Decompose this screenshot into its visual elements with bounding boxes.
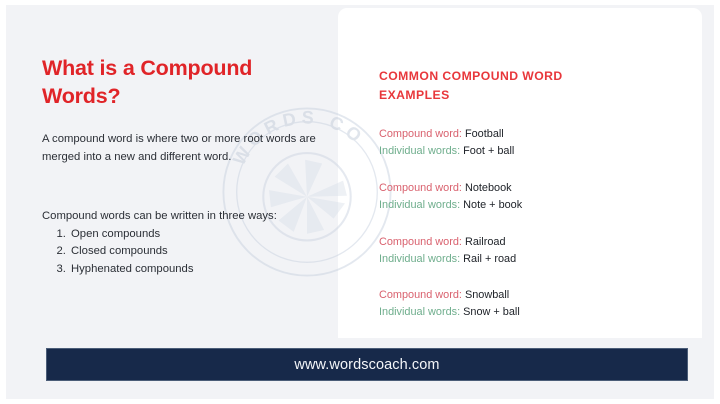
example-block: Compound word: Railroad Individual words… xyxy=(379,234,679,268)
compound-word-value: Notebook xyxy=(465,182,512,194)
list-item: Closed compounds xyxy=(69,243,320,261)
individual-words-value: Rail + road xyxy=(463,253,516,265)
individual-words-line: Individual words: Note + book xyxy=(379,197,679,214)
individual-words-label: Individual words: xyxy=(379,199,460,211)
ways-intro-paragraph: Compound words can be written in three w… xyxy=(42,207,320,225)
compound-word-value: Railroad xyxy=(465,236,506,248)
website-url[interactable]: www.wordscoach.com xyxy=(294,357,439,373)
individual-words-line: Individual words: Foot + ball xyxy=(379,143,679,160)
slide-root: WORDS CO What is a Compound Words? A xyxy=(0,0,720,404)
individual-words-label: Individual words: xyxy=(379,253,460,265)
individual-words-label: Individual words: xyxy=(379,145,460,157)
individual-words-label: Individual words: xyxy=(379,306,460,318)
example-block: Compound word: Notebook Individual words… xyxy=(379,180,679,214)
list-item: Open compounds xyxy=(69,226,320,244)
compound-word-label: Compound word: xyxy=(379,182,462,194)
page-title: What is a Compound Words? xyxy=(42,55,320,110)
compound-word-line: Compound word: Football xyxy=(379,126,679,143)
compound-word-label: Compound word: xyxy=(379,236,462,248)
individual-words-value: Note + book xyxy=(463,199,522,211)
individual-words-value: Snow + ball xyxy=(463,306,520,318)
example-block: Compound word: Football Individual words… xyxy=(379,126,679,160)
slide-canvas: WORDS CO What is a Compound Words? A xyxy=(6,5,714,399)
compound-word-line: Compound word: Railroad xyxy=(379,234,679,251)
individual-words-value: Foot + ball xyxy=(463,145,514,157)
compound-word-line: Compound word: Snowball xyxy=(379,287,679,304)
compound-word-value: Football xyxy=(465,128,504,140)
definition-paragraph: A compound word is where two or more roo… xyxy=(42,130,320,167)
list-item: Hyphenated compounds xyxy=(69,261,320,279)
footer-bar: www.wordscoach.com xyxy=(46,348,688,381)
compound-word-label: Compound word: xyxy=(379,128,462,140)
compound-ways-list: Open compounds Closed compounds Hyphenat… xyxy=(42,226,320,279)
compound-word-value: Snowball xyxy=(465,289,509,301)
right-column: COMMON COMPOUND WORD EXAMPLES Compound w… xyxy=(379,67,679,321)
individual-words-line: Individual words: Snow + ball xyxy=(379,304,679,321)
paragraph-spacer xyxy=(42,167,320,207)
example-block: Compound word: Snowball Individual words… xyxy=(379,287,679,321)
examples-heading: COMMON COMPOUND WORD EXAMPLES xyxy=(379,67,597,104)
left-column: What is a Compound Words? A compound wor… xyxy=(42,55,320,278)
compound-word-label: Compound word: xyxy=(379,289,462,301)
individual-words-line: Individual words: Rail + road xyxy=(379,251,679,268)
compound-word-line: Compound word: Notebook xyxy=(379,180,679,197)
